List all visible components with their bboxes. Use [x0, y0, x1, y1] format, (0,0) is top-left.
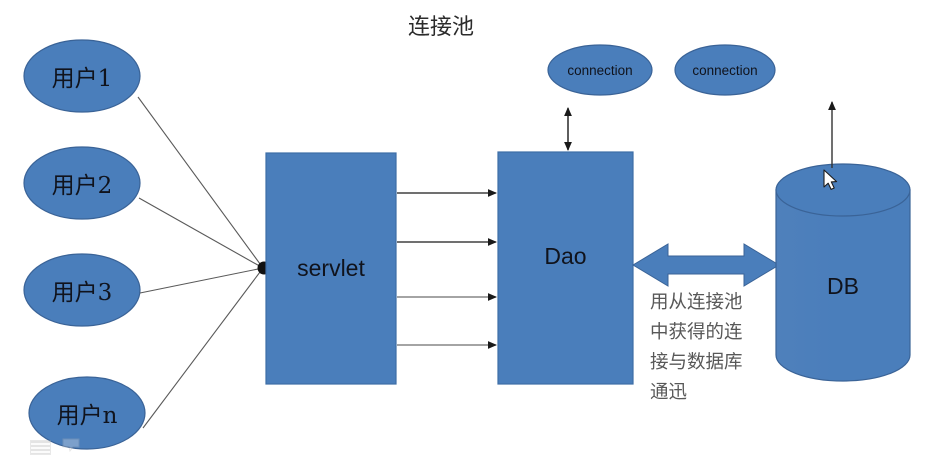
diagram-title: 连接池 [408, 9, 474, 41]
servlet-to-dao-arrows [397, 193, 496, 345]
dao-db-note-line-2: 中获得的连 [650, 318, 768, 348]
diagram-canvas: 连接池 用户1 用户2 用户3 用户n servlet Dao DB conne… [0, 0, 934, 458]
dao-db-note-line-3: 接与数据库 [650, 348, 768, 378]
balloon-icon [62, 438, 80, 453]
user-node-3[interactable] [24, 254, 140, 326]
pool-connection-1[interactable] [548, 45, 652, 95]
pool-connection-2[interactable] [675, 45, 775, 95]
user-node-n[interactable] [29, 377, 145, 449]
window-icon [30, 440, 51, 455]
dao-box[interactable] [498, 152, 633, 384]
dao-db-note-line-4: 通迅 [650, 378, 768, 408]
database-cylinder[interactable] [776, 164, 910, 381]
user-node-2[interactable] [24, 147, 140, 219]
diagram-vector-layer [0, 0, 934, 458]
user-node-1[interactable] [24, 40, 140, 112]
dao-db-bidirectional-arrow [633, 244, 779, 286]
user-to-servlet-connectors [138, 97, 263, 428]
dao-db-note-line-1: 用从连接池 [650, 288, 768, 318]
dao-db-note: 用从连接池 中获得的连 接与数据库 通迅 [650, 288, 768, 408]
servlet-box[interactable] [266, 153, 396, 384]
